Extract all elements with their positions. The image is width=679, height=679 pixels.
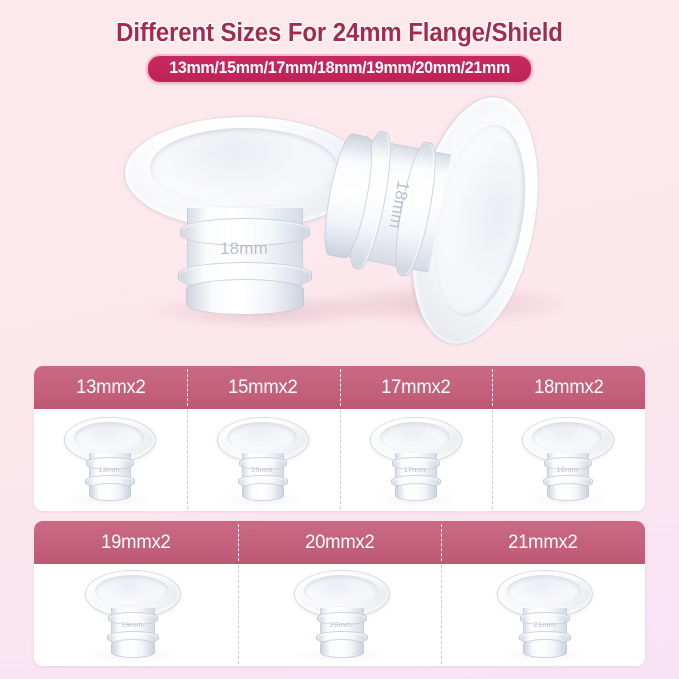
insert-base [395,483,437,501]
size-row-2: 19mmx2 20mmx2 21mmx2 [34,521,645,666]
size-header-label: 19mmx2 [101,532,171,554]
size-header-label: 15mmx2 [228,377,298,399]
hero-product-photos: 18mm 18mm [0,98,679,353]
size-cell-18mm[interactable]: 18mm [492,409,645,511]
mini-insert: 15mm [217,417,307,501]
flange-funnel-inner [507,575,581,607]
size-list-label: 13mm/15mm/17mm/18mm/19mm/20mm/21mm [169,58,510,79]
mini-product-21mm: 21mm [441,564,645,666]
mini-product-20mm: 20mm [238,564,442,666]
insert-upper-ring [520,612,570,625]
size-header-13mm[interactable]: 13mmx2 [34,366,187,409]
mini-insert: 20mm [294,570,388,658]
insert-base [89,483,131,501]
size-header-17mm[interactable]: 17mmx2 [340,366,493,409]
size-header-20mm[interactable]: 20mmx2 [238,521,442,564]
flange-funnel-inner [380,422,450,453]
size-row-2-header: 19mmx2 20mmx2 21mmx2 [34,521,645,564]
flange-funnel-inner [304,575,378,607]
size-cell-15mm[interactable]: 15mm [187,409,340,511]
size-header-label: 17mmx2 [381,377,451,399]
insert-base [320,639,364,658]
insert-base [523,639,567,658]
size-cell-19mm[interactable]: 19mm [34,564,238,666]
size-row-1: 13mmx2 15mmx2 17mmx2 18mmx2 [34,366,645,511]
flange-funnel-inner [532,422,602,453]
mini-product-19mm: 19mm [34,564,238,666]
mini-product-13mm: 13mm [34,409,187,511]
flange-funnel-inner [95,575,169,607]
size-cell-21mm[interactable]: 21mm [441,564,645,666]
mini-insert: 13mm [64,417,154,501]
insert-upper-ring [108,612,158,625]
insert-base [242,483,284,501]
insert-upper-ring [239,457,287,470]
insert-base [547,483,589,501]
size-cell-20mm[interactable]: 20mm [238,564,442,666]
page-title: Different Sizes For 24mm Flange/Shield [20,16,658,50]
flange-funnel-inner [150,128,338,208]
size-header-label: 13mmx2 [76,377,146,399]
size-row-1-body: 13mm 15mm [34,409,645,511]
size-row-1-header: 13mmx2 15mmx2 17mmx2 18mmx2 [34,366,645,409]
flange-funnel-inner [74,422,144,453]
insert-upper-ring [392,457,440,470]
size-cell-17mm[interactable]: 17mm [340,409,493,511]
size-header-label: 20mmx2 [305,532,375,554]
size-cell-13mm[interactable]: 13mm [34,409,187,511]
header: Different Sizes For 24mm Flange/Shield 1… [0,16,679,84]
size-header-15mm[interactable]: 15mmx2 [187,366,340,409]
size-row-2-body: 19mm 20mm [34,564,645,666]
mini-product-15mm: 15mm [187,409,340,511]
insert-base [111,639,155,658]
mini-insert: 17mm [370,417,460,501]
flange-funnel-inner [227,422,297,453]
mini-product-17mm: 17mm [340,409,493,511]
insert-upper-ring [544,457,592,470]
size-header-21mm[interactable]: 21mmx2 [441,521,645,564]
size-header-19mm[interactable]: 19mmx2 [34,521,238,564]
mini-insert: 21mm [497,570,591,658]
subtitle-container: 13mm/15mm/17mm/18mm/19mm/20mm/21mm [0,54,679,84]
product-infographic: Different Sizes For 24mm Flange/Shield 1… [0,0,679,679]
insert-upper-ring [317,612,367,625]
mini-product-18mm: 18mm [492,409,645,511]
mini-insert: 19mm [85,570,179,658]
size-header-18mm[interactable]: 18mmx2 [492,366,645,409]
insert-upper-ring [86,457,134,470]
insert-upper-ring [180,218,310,246]
size-header-label: 18mmx2 [534,377,604,399]
size-list-badge: 13mm/15mm/17mm/18mm/19mm/20mm/21mm [146,54,533,84]
mini-insert: 18mm [522,417,612,501]
insert-base [186,279,304,315]
size-header-label: 21mmx2 [508,532,578,554]
